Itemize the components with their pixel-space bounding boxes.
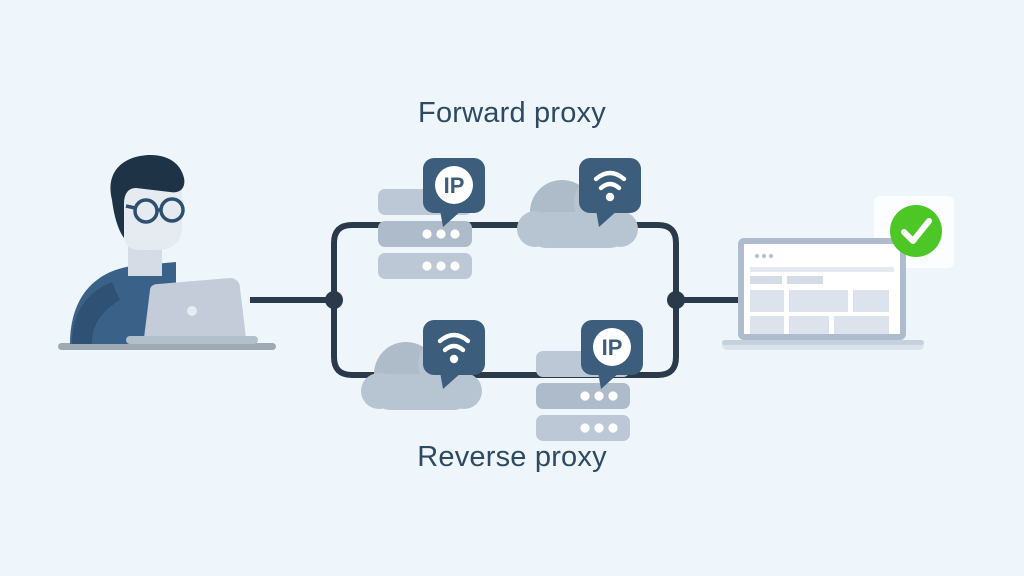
content-block xyxy=(750,316,784,334)
content-block xyxy=(834,316,889,334)
content-block xyxy=(853,290,889,312)
laptop-base-edge xyxy=(722,340,924,345)
browser-dot xyxy=(762,254,766,258)
content-block xyxy=(789,316,829,334)
destination-website xyxy=(0,0,1024,576)
browser-addressbar xyxy=(750,267,894,272)
browser-dot xyxy=(769,254,773,258)
content-block xyxy=(750,290,784,312)
status-check-badge xyxy=(890,205,942,257)
browser-tab-block xyxy=(787,276,823,284)
forward-proxy-label: Forward proxy xyxy=(0,97,1024,130)
diagram-canvas: IP xyxy=(0,0,1024,576)
check-circle xyxy=(890,205,942,257)
browser-window xyxy=(750,248,894,334)
browser-tab-block xyxy=(750,276,782,284)
reverse-proxy-label: Reverse proxy xyxy=(0,441,1024,474)
content-block xyxy=(789,290,848,312)
browser-dot xyxy=(755,254,759,258)
destination-laptop xyxy=(722,238,924,350)
